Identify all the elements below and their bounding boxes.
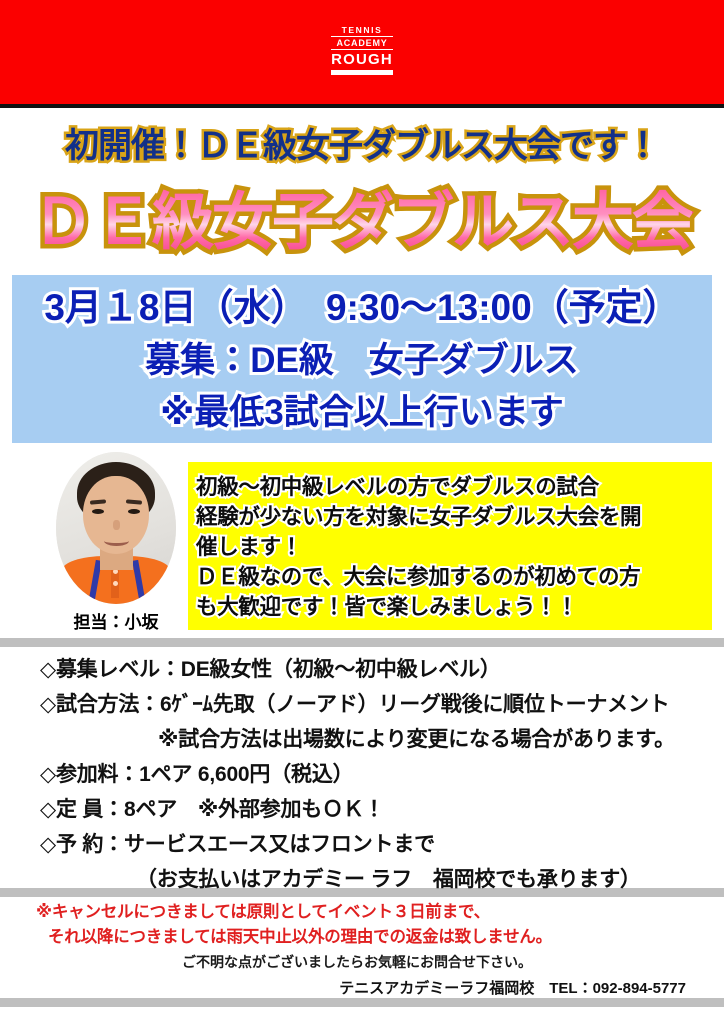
description-line: も大歓迎です！皆で楽しみましょう！！	[196, 592, 706, 622]
photo-shirt-button-2	[113, 581, 118, 586]
brand-logo: TENNIS ACADEMY ROUGH	[331, 26, 393, 75]
photo-eye-left	[92, 509, 104, 514]
detail-item-capacity: ◇定 員：8ペア ※外部参加もＯＫ！	[40, 792, 720, 827]
logo-line-rough: ROUGH	[331, 52, 393, 67]
description-box: 初級〜初中級レベルの方でダブルスの試合 経験が少ない方を対象に女子ダブルス大会を…	[188, 462, 712, 630]
footer: ※キャンセルにつきましては原則としてイベント３日前まで、 それ以降につきましては…	[0, 900, 724, 1002]
event-date-time: 3月１8日（水） 9:30〜13:00（予定）	[12, 281, 712, 335]
inquiry-note: ご不明な点がございましたらお気軽にお問合せ下さい。	[0, 950, 724, 974]
detail-item-payment-note: （お支払いはアカデミー ラフ 福岡校でも承ります）	[40, 862, 720, 897]
photo-eye-right	[128, 509, 140, 514]
instructor-photo	[56, 452, 176, 604]
title-fill-layer: ＤＥ級女子ダブルス大会	[32, 186, 692, 260]
title-stroke-layer: ＤＥ級女子ダブルス大会ＤＥ級女子ダブルス大会	[32, 186, 692, 260]
instructor-caption: 担当：小坂	[52, 608, 180, 633]
description-line: 催します！	[196, 532, 706, 562]
photo-nose	[113, 520, 120, 530]
logo-line-academy: ACADEMY	[331, 39, 393, 50]
logo-underline-bar	[331, 70, 393, 75]
logo-line-tennis: TENNIS	[331, 26, 393, 37]
description-line: 初級〜初中級レベルの方でダブルスの試合	[196, 472, 706, 502]
divider-top	[0, 638, 724, 647]
detail-item-reservation: ◇予 約：サービスエース又はフロントまで	[40, 827, 720, 862]
event-schedule-box: 3月１8日（水） 9:30〜13:00（予定） 募集：DE級 女子ダブルス ※最…	[12, 275, 712, 443]
detail-item-level: ◇募集レベル：DE級女性（初級〜初中級レベル）	[40, 652, 720, 687]
sub-headline: 初開催！ＤＥ級女子ダブルス大会です！	[0, 118, 724, 167]
cancellation-policy-line-2: それ以降につきましては雨天中止以外の理由での返金は致しません。	[0, 925, 724, 950]
detail-item-format: ◇試合方法：6ｹﾞｰﾑ先取（ノーアド）リーグ戦後に順位トーナメント	[40, 687, 720, 722]
details-list: ◇募集レベル：DE級女性（初級〜初中級レベル） ◇試合方法：6ｹﾞｰﾑ先取（ノー…	[40, 652, 720, 897]
page-title: ＤＥ級女子ダブルス大会ＤＥ級女子ダブルス大会	[0, 186, 724, 264]
description-line: 経験が少ない方を対象に女子ダブルス大会を開	[196, 502, 706, 532]
event-match-note: ※最低3試合以上行います	[12, 387, 712, 439]
description-line: ＤＥ級なので、大会に参加するのが初めての方	[196, 562, 706, 592]
detail-item-format-note: ※試合方法は出場数により変更になる場合があります。	[40, 722, 720, 757]
cancellation-policy-line-1: ※キャンセルにつきましては原則としてイベント３日前まで、	[0, 900, 724, 925]
detail-item-fee: ◇参加料：1ペア 6,600円（税込）	[40, 757, 720, 792]
photo-mouth	[104, 536, 129, 546]
contact-info: テニスアカデミーラフ福岡校 TEL：092-894-5777	[0, 974, 724, 1002]
instructor-block: 担当：小坂	[52, 452, 180, 633]
header-band: TENNIS ACADEMY ROUGH	[0, 0, 724, 108]
event-category: 募集：DE級 女子ダブルス	[12, 335, 712, 387]
